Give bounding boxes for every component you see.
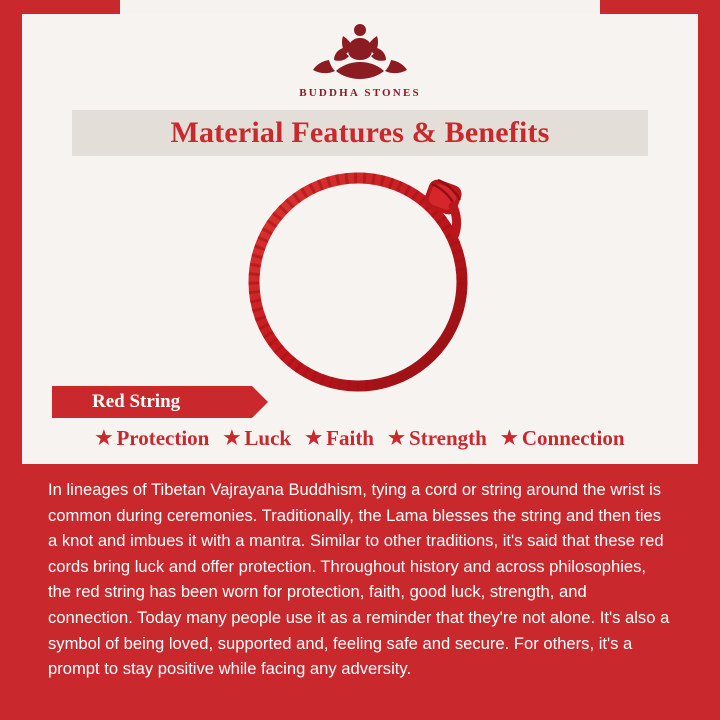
keyword-label: Strength (409, 426, 487, 451)
product-label-tab: Red String (52, 386, 252, 418)
star-icon: ★ (305, 427, 322, 450)
keyword-protection: ★ Protection (95, 426, 219, 451)
keyword-faith: ★ Faith (305, 426, 384, 451)
brand-name: BUDDHA STONES (22, 87, 698, 99)
keyword-luck: ★ Luck (223, 426, 301, 451)
keyword-connection: ★ Connection (501, 426, 625, 451)
keyword-label: Faith (326, 426, 374, 451)
keyword-label: Luck (244, 426, 291, 451)
infographic-page: BUDDHA STONES Material Features & Benefi… (0, 0, 720, 720)
star-icon: ★ (95, 427, 112, 450)
benefit-keywords-row: ★ Protection ★ Luck ★ Faith ★ Strength ★… (22, 426, 698, 451)
keyword-label: Protection (116, 426, 209, 451)
page-title: Material Features & Benefits (170, 116, 549, 150)
star-icon: ★ (223, 427, 240, 450)
keyword-strength: ★ Strength (388, 426, 497, 451)
description-text: In lineages of Tibetan Vajrayana Buddhis… (48, 477, 672, 682)
product-label: Red String (92, 391, 180, 413)
star-icon: ★ (501, 427, 518, 450)
title-banner: Material Features & Benefits (72, 110, 648, 156)
decorative-right-band (698, 0, 720, 720)
product-image-area (22, 162, 698, 402)
decorative-top-left-corner (0, 0, 120, 14)
keyword-label: Connection (522, 426, 625, 451)
decorative-left-band (0, 0, 22, 720)
brand-logo: BUDDHA STONES (22, 18, 698, 99)
description-block: In lineages of Tibetan Vajrayana Buddhis… (22, 464, 698, 720)
content-area: BUDDHA STONES Material Features & Benefi… (22, 14, 698, 720)
decorative-top-right-corner (600, 0, 720, 14)
lotus-meditation-icon (22, 18, 698, 85)
star-icon: ★ (388, 427, 405, 450)
